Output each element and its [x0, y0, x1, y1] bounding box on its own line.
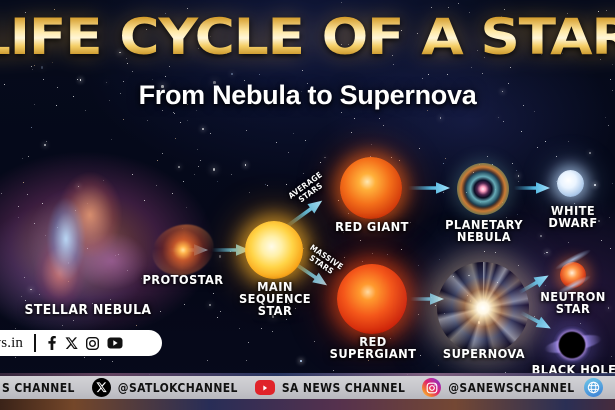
label-protostar: PROTOSTAR [130, 274, 236, 287]
pill-divider [34, 334, 36, 352]
page-title: THE LIFE CYCLE OF A STAR [0, 9, 615, 65]
planetary-nebula-art [457, 163, 509, 215]
white-dwarf-art [557, 170, 584, 197]
header-block: THE LIFE CYCLE OF A STAR From Nebula to … [0, 0, 615, 124]
x-icon[interactable] [65, 337, 78, 350]
x-icon[interactable] [92, 378, 111, 397]
label-neutron-star: NEUTRON STAR [536, 291, 610, 315]
label-main-sequence-star: MAIN SEQUENCE STAR [232, 281, 319, 317]
label-red-giant: RED GIANT [327, 221, 416, 234]
label-supernova: SUPERNOVA [435, 348, 533, 360]
ticker-label: @SANEWSCHANNEL [448, 381, 574, 395]
site-url-text: news.in [0, 335, 23, 352]
ticker-label: @SATLOKCHANNEL [118, 381, 238, 395]
ticker-item-satlokchannel[interactable]: @SATLOKCHANNEL [92, 378, 238, 397]
stellar-nebula-art [12, 165, 162, 315]
globe-icon[interactable] [584, 378, 603, 397]
arrow-planetarynebula-to-whitedwarf [514, 181, 554, 195]
ticker-item-sanewschannel[interactable]: @SANEWSCHANNEL [422, 378, 574, 397]
ticker-label: SA NEWS CHANNEL [282, 381, 405, 395]
infographic-canvas: THE LIFE CYCLE OF A STAR From Nebula to … [0, 0, 615, 410]
site-watermark-pill[interactable]: news.in [0, 330, 162, 356]
instagram-icon[interactable] [86, 337, 99, 350]
ticker-item-sa-news-channel[interactable]: SA NEWS CHANNEL [255, 380, 405, 395]
label-massive-stars: MASSIVE STARS [300, 241, 348, 282]
ticker-label: S CHANNEL [2, 381, 75, 395]
ticker-item-website[interactable] [584, 378, 603, 397]
label-average-stars: AVERAGE STARS [284, 168, 332, 210]
supernova-art [437, 262, 529, 354]
facebook-icon[interactable] [47, 336, 57, 350]
page-subtitle: From Nebula to Supernova [139, 80, 477, 111]
red-supergiant-art [337, 264, 407, 334]
youtube-icon[interactable] [107, 337, 123, 349]
main-sequence-star-art [245, 221, 303, 279]
label-red-supergiant: RED SUPERGIANT [325, 336, 420, 360]
ticker-bottom-strip [0, 399, 615, 410]
ticker-item-news-channel[interactable]: S CHANNEL [2, 381, 75, 395]
bottom-ticker-bar: S CHANNEL @SATLOKCHANNEL SA NEWS CHANNEL… [0, 376, 615, 399]
label-planetary-nebula: PLANETARY NEBULA [439, 219, 528, 243]
youtube-icon[interactable] [255, 380, 275, 395]
red-giant-art [340, 157, 402, 219]
label-stellar-nebula: STELLAR NEBULA [14, 304, 162, 318]
instagram-icon[interactable] [422, 378, 441, 397]
label-white-dwarf: WHITE DWARF [541, 205, 605, 229]
black-hole-art [552, 325, 592, 365]
arrow-redgiant-to-planetarynebula [408, 181, 454, 195]
